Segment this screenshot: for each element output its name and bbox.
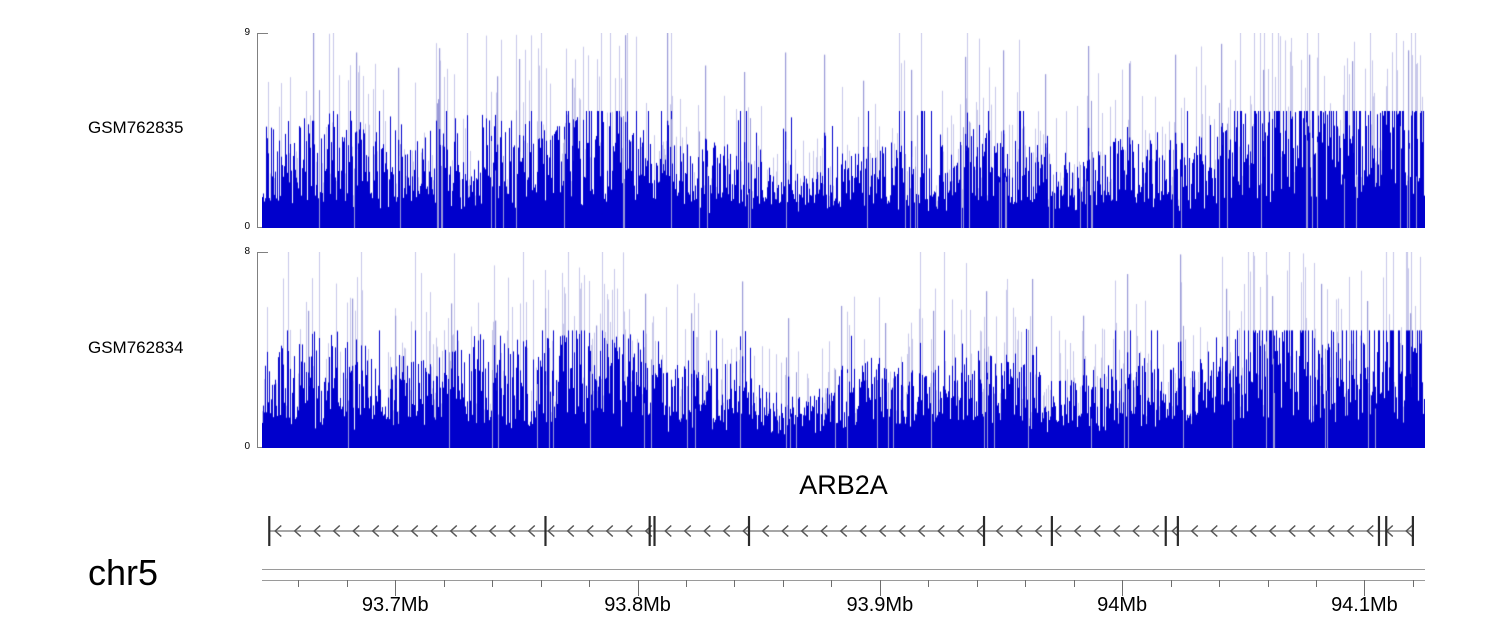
genomic-coordinate-axis[interactable]: 93.7Mb93.8Mb93.9Mb94Mb94.1Mb xyxy=(262,580,1425,638)
axis-minor-tick xyxy=(589,580,590,587)
axis-tick-label: 94.1Mb xyxy=(1331,594,1398,617)
track-1-coverage-canvas xyxy=(262,33,1425,228)
axis-minor-tick xyxy=(541,580,542,587)
chromosome-label: chr5 xyxy=(88,552,158,594)
axis-minor-tick xyxy=(1074,580,1075,587)
axis-minor-tick xyxy=(492,580,493,587)
axis-minor-tick xyxy=(1268,580,1269,587)
axis-minor-tick xyxy=(977,580,978,587)
axis-tick-label: 93.8Mb xyxy=(604,594,671,617)
track-2-coverage-canvas xyxy=(262,252,1425,448)
coverage-track-gsm762834[interactable] xyxy=(262,252,1425,448)
gene-model-glyph xyxy=(262,512,1425,550)
gene-annotation-track[interactable]: ARB2A xyxy=(262,470,1425,550)
axis-minor-tick xyxy=(1171,580,1172,587)
coordinate-axis-line xyxy=(262,580,1425,581)
track-label-gsm762835: GSM762835 xyxy=(88,118,183,138)
coverage-track-gsm762835[interactable] xyxy=(262,33,1425,228)
track-1-axis-min-label: 0 xyxy=(224,221,250,232)
genome-browser-viewport: GSM762835 9 0 GSM762834 8 0 ARB2A chr5 9… xyxy=(0,0,1500,640)
track-1-axis-max-label: 9 xyxy=(224,27,250,38)
track-2-axis-max-label: 8 xyxy=(224,246,250,257)
axis-minor-tick xyxy=(1316,580,1317,587)
axis-minor-tick xyxy=(1025,580,1026,587)
axis-minor-tick xyxy=(734,580,735,587)
axis-tick-label: 94Mb xyxy=(1097,594,1147,617)
axis-minor-tick xyxy=(1219,580,1220,587)
axis-tick-label: 93.7Mb xyxy=(362,594,429,617)
axis-minor-tick xyxy=(783,580,784,587)
track-label-gsm762834: GSM762834 xyxy=(88,338,183,358)
axis-minor-tick xyxy=(298,580,299,587)
axis-minor-tick xyxy=(444,580,445,587)
axis-minor-tick xyxy=(686,580,687,587)
gene-name-label: ARB2A xyxy=(799,470,888,501)
axis-minor-tick xyxy=(347,580,348,587)
track-2-axis-min-label: 0 xyxy=(224,441,250,452)
axis-minor-tick xyxy=(831,580,832,587)
axis-tick-label: 93.9Mb xyxy=(846,594,913,617)
track-separator-rule xyxy=(262,569,1425,570)
axis-minor-tick xyxy=(928,580,929,587)
axis-minor-tick xyxy=(1413,580,1414,587)
